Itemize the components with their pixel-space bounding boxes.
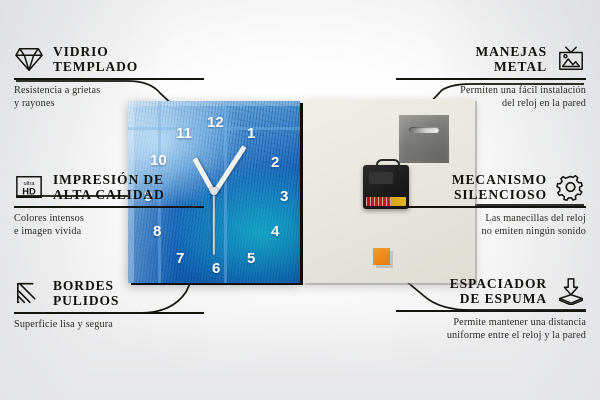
metal-hanger-plate (399, 115, 449, 163)
clock-number: 4 (271, 224, 279, 239)
hanger-slot (409, 127, 439, 133)
callout-rule (396, 78, 586, 80)
picture-frame-icon (556, 45, 586, 73)
callout-bordes-pulidos: BORDES PULIDOS Superficie lisa y segura (14, 278, 204, 332)
clock-number: 12 (207, 115, 224, 130)
callout-subtitle: Superficie lisa y segura (14, 319, 204, 332)
callout-subtitle: Permiten una fácil instalación del reloj… (396, 85, 586, 110)
battery-label-stripes (366, 197, 392, 206)
clock-number: 2 (271, 155, 279, 170)
callout-subtitle: Las manecillas del reloj no emiten ningú… (396, 213, 586, 238)
gear-icon (556, 173, 586, 201)
clock-number: 1 (247, 126, 255, 141)
clock-number: 7 (176, 251, 184, 266)
clock-number: 3 (280, 189, 288, 204)
polished-edges-icon (14, 279, 44, 307)
ultra-hd-icon: ultra HD (14, 173, 44, 201)
callout-subtitle: Permite mantener una distancia uniforme … (396, 317, 586, 342)
callout-impresion-alta-calidad: ultra HD IMPRESIÓN DE ALTA CALIDAD Color… (14, 172, 204, 238)
clock-number: 6 (212, 261, 220, 276)
infographic-canvas: 12 1 2 3 4 5 6 7 8 9 10 11 (0, 0, 600, 400)
callout-rule (14, 78, 204, 80)
callout-title: IMPRESIÓN DE ALTA CALIDAD (53, 172, 165, 202)
clock-second-hand (213, 193, 215, 255)
svg-text:HD: HD (22, 186, 36, 196)
callout-title: ESPACIADOR DE ESPUMA (450, 276, 547, 306)
callout-title: MANEJAS METAL (475, 44, 547, 74)
clock-center-cap (210, 187, 218, 195)
callout-rule (396, 310, 586, 312)
clock-number: 5 (247, 251, 255, 266)
callout-title: MECANISMO SILENCIOSO (452, 172, 547, 202)
callout-rule (14, 312, 204, 314)
mechanism-housing (369, 172, 393, 184)
callout-title: BORDES PULIDOS (53, 278, 119, 308)
diamond-icon (14, 45, 44, 73)
callout-mecanismo-silencioso: MECANISMO SILENCIOSO Las manecillas del … (396, 172, 586, 238)
foam-spacer-arrow-icon (556, 277, 586, 305)
callout-title: VIDRIO TEMPLADO (53, 44, 138, 74)
mechanism-hook (376, 159, 400, 170)
callout-manejas-metal: MANEJAS METAL Permiten una fácil instala… (396, 44, 586, 110)
callout-rule (14, 206, 204, 208)
callout-rule (396, 206, 586, 208)
callout-subtitle: Colores intensos e imagen vívida (14, 213, 204, 238)
callout-subtitle: Resistencia a grietas y rayones (14, 85, 204, 110)
clock-number: 10 (150, 153, 167, 168)
foam-spacer-square (373, 248, 390, 265)
callout-vidrio-templado: VIDRIO TEMPLADO Resistencia a grietas y … (14, 44, 204, 110)
clock-number: 11 (176, 126, 192, 141)
callout-espaciador-espuma: ESPACIADOR DE ESPUMA Permite mantener un… (396, 276, 586, 342)
